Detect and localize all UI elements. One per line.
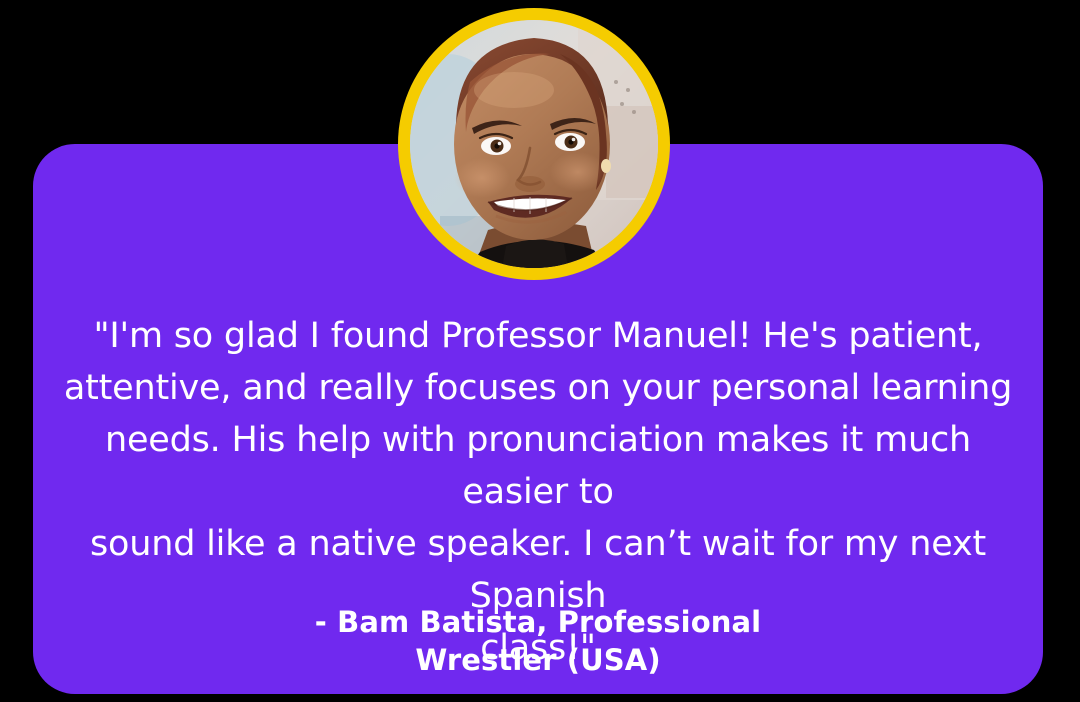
testimonial-attribution: - Bam Batista, Professional Wrestler (US…	[33, 603, 1043, 679]
avatar-photo-icon	[410, 20, 658, 268]
avatar	[398, 8, 670, 280]
testimonial-card-stage: "I'm so glad I found Professor Manuel! H…	[0, 0, 1080, 702]
